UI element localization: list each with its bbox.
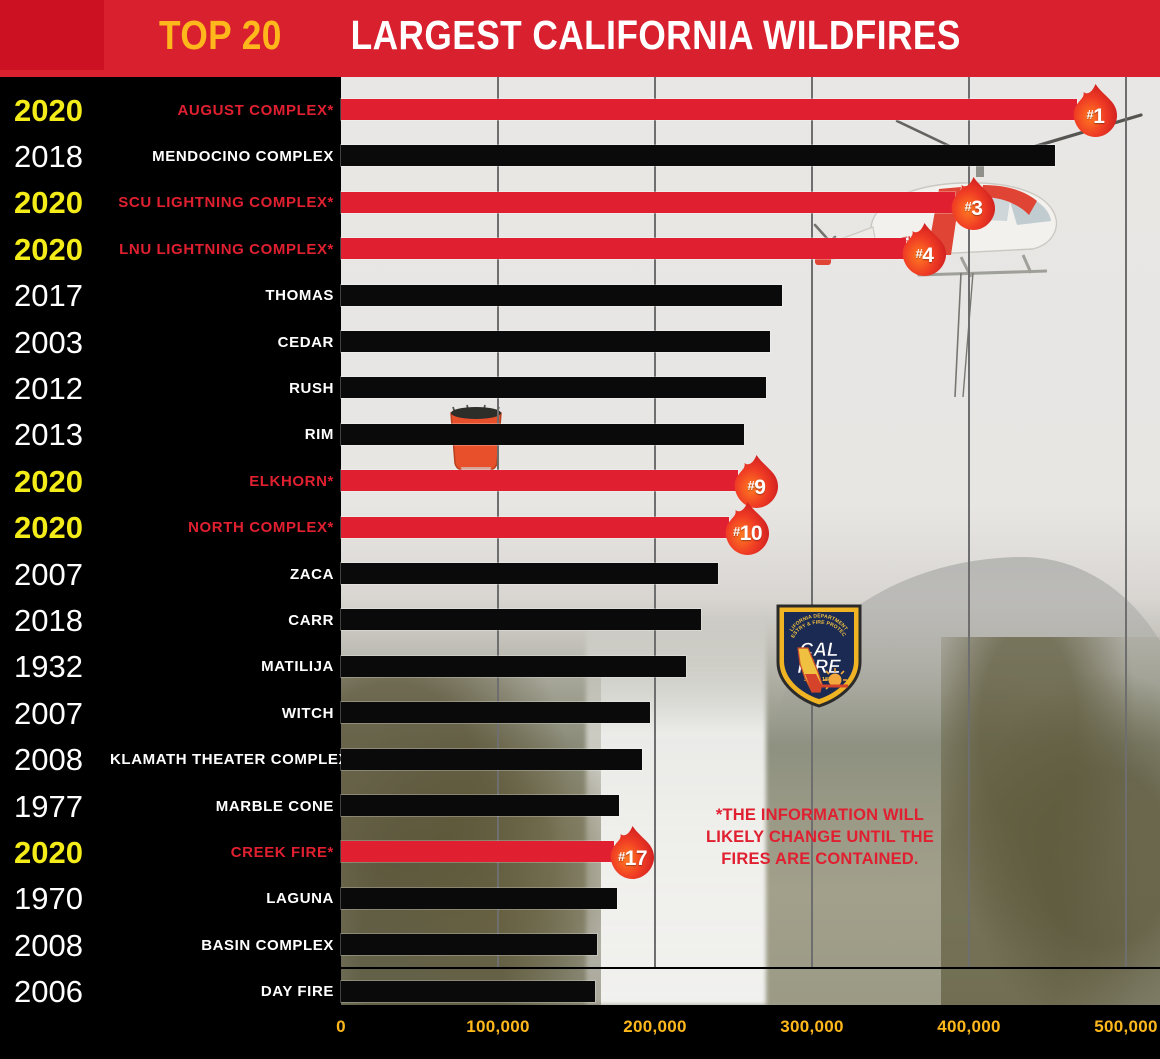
row-fire-name: RUSH <box>110 381 334 396</box>
row-fire-name: DAY FIRE <box>110 984 334 999</box>
row-year: 2017 <box>14 280 124 311</box>
rank-label: #3 <box>965 188 983 219</box>
row-year: 1970 <box>14 883 124 914</box>
row-bar <box>341 238 906 259</box>
row-fire-name: CARR <box>110 613 334 628</box>
row-bar <box>341 517 729 538</box>
row-fire-name: ELKHORN* <box>110 474 334 489</box>
x-axis-tick-label: 100,000 <box>466 1017 530 1037</box>
bar-row: 2020SCU LIGHTNING COMPLEX*#3 <box>0 180 1160 226</box>
row-fire-name: SCU LIGHTNING COMPLEX* <box>110 195 334 210</box>
cal-fire-logo-icon: CALIFORNIA DEPARTMENT OF FORESTRY & FIRE… <box>772 602 866 710</box>
row-year: 2018 <box>14 605 124 636</box>
row-bar <box>341 145 1055 166</box>
row-year: 2020 <box>14 187 124 218</box>
row-year: 2012 <box>14 373 124 404</box>
bar-row: 1977MARBLE CONE <box>0 783 1160 829</box>
row-bar <box>341 981 595 1002</box>
bar-row: 2020ELKHORN*#9 <box>0 458 1160 504</box>
row-fire-name: NORTH COMPLEX* <box>110 520 334 535</box>
x-axis-tick-label: 500,000 <box>1094 1017 1158 1037</box>
row-fire-name: MENDOCINO COMPLEX <box>110 149 334 164</box>
row-year: 2020 <box>14 234 124 265</box>
bar-row: 1932MATILIJA <box>0 644 1160 690</box>
x-axis-tick-label: 300,000 <box>780 1017 844 1037</box>
row-fire-name: MARBLE CONE <box>110 799 334 814</box>
axis-baseline <box>341 967 1160 969</box>
row-year: 1977 <box>14 791 124 822</box>
bar-row: 2012RUSH <box>0 365 1160 411</box>
x-axis-tick-label: 0 <box>336 1017 346 1037</box>
disclaimer-note: *THE INFORMATION WILL LIKELY CHANGE UNTI… <box>700 805 940 870</box>
bar-row: 2003CEDAR <box>0 319 1160 365</box>
rank-flame-badge: #1 <box>1071 83 1120 139</box>
row-fire-name: LNU LIGHTNING COMPLEX* <box>110 242 334 257</box>
rank-label: #10 <box>733 513 762 544</box>
rank-flame-badge: #10 <box>723 501 772 557</box>
x-axis-tick-label: 200,000 <box>623 1017 687 1037</box>
bar-row: 2020AUGUST COMPLEX*#1 <box>0 87 1160 133</box>
row-fire-name: WITCH <box>110 706 334 721</box>
bar-row: 2013RIM <box>0 412 1160 458</box>
rank-flame-badge: #4 <box>900 222 949 278</box>
bar-row: 2008KLAMATH THEATER COMPLEX <box>0 737 1160 783</box>
title-rest: LARGEST CALIFORNIA WILDFIRES <box>351 12 961 59</box>
row-fire-name: CEDAR <box>110 335 334 350</box>
row-year: 1932 <box>14 651 124 682</box>
row-bar <box>341 377 766 398</box>
row-year: 2013 <box>14 419 124 450</box>
row-fire-name: CREEK FIRE* <box>110 845 334 860</box>
bar-chart: CAL FIRE <box>0 77 1160 1005</box>
row-bar <box>341 795 619 816</box>
row-year: 2008 <box>14 744 124 775</box>
bar-row: 2018CARR <box>0 597 1160 643</box>
row-bar <box>341 749 642 770</box>
row-year: 2020 <box>14 512 124 543</box>
row-fire-name: RIM <box>110 427 334 442</box>
rank-label: #1 <box>1087 96 1105 127</box>
row-year: 2020 <box>14 95 124 126</box>
row-bar <box>341 285 782 306</box>
row-bar <box>341 656 686 677</box>
row-bar <box>341 563 718 584</box>
row-fire-name: LAGUNA <box>110 891 334 906</box>
bar-row: 2020CREEK FIRE*#17 <box>0 829 1160 875</box>
rank-flame-badge: #3 <box>949 176 998 232</box>
header-banner: TOP 20 LARGEST CALIFORNIA WILDFIRES <box>0 0 1160 77</box>
bar-row: 2020NORTH COMPLEX*#10 <box>0 505 1160 551</box>
row-bar <box>341 702 650 723</box>
rank-label: #4 <box>916 235 934 266</box>
row-bar <box>341 470 738 491</box>
row-year: 2018 <box>14 141 124 172</box>
infographic-root: TOP 20 LARGEST CALIFORNIA WILDFIRES <box>0 0 1160 1059</box>
bar-row: 2020LNU LIGHTNING COMPLEX*#4 <box>0 226 1160 272</box>
row-year: 2007 <box>14 698 124 729</box>
row-fire-name: MATILIJA <box>110 659 334 674</box>
bar-row: 2007ZACA <box>0 551 1160 597</box>
row-bar <box>341 331 770 352</box>
row-fire-name: BASIN COMPLEX <box>110 938 334 953</box>
bar-row: 2018MENDOCINO COMPLEX <box>0 133 1160 179</box>
disclaimer-line-2: LIKELY CHANGE UNTIL THE <box>700 827 940 849</box>
disclaimer-line-3: FIRES ARE CONTAINED. <box>700 849 940 871</box>
x-axis: 0100,000200,000300,000400,000500,000 <box>0 1005 1160 1059</box>
title-highlight: TOP 20 <box>159 12 282 59</box>
row-bar <box>341 424 744 445</box>
bar-row: 1970LAGUNA <box>0 876 1160 922</box>
row-year: 2003 <box>14 327 124 358</box>
rank-flame-badge: #17 <box>608 825 657 881</box>
row-bar <box>341 934 597 955</box>
row-year: 2020 <box>14 466 124 497</box>
row-bar <box>341 192 955 213</box>
disclaimer-line-1: *THE INFORMATION WILL <box>700 805 940 827</box>
row-bar <box>341 99 1077 120</box>
bar-row: 2017THOMAS <box>0 273 1160 319</box>
row-year: 2020 <box>14 837 124 868</box>
row-bar <box>341 841 614 862</box>
page-title: TOP 20 LARGEST CALIFORNIA WILDFIRES <box>0 0 1160 70</box>
bar-row: 2007WITCH <box>0 690 1160 736</box>
x-axis-tick-label: 400,000 <box>937 1017 1001 1037</box>
row-fire-name: AUGUST COMPLEX* <box>110 103 334 118</box>
row-fire-name: KLAMATH THEATER COMPLEX <box>110 752 334 767</box>
row-fire-name: THOMAS <box>110 288 334 303</box>
row-bar <box>341 888 617 909</box>
row-bar <box>341 609 701 630</box>
row-year: 2006 <box>14 976 124 1007</box>
row-year: 2007 <box>14 559 124 590</box>
rank-label: #17 <box>618 838 647 869</box>
row-fire-name: ZACA <box>110 567 334 582</box>
row-year: 2008 <box>14 930 124 961</box>
bar-row: 2008BASIN COMPLEX <box>0 922 1160 968</box>
rank-label: #9 <box>748 467 766 498</box>
